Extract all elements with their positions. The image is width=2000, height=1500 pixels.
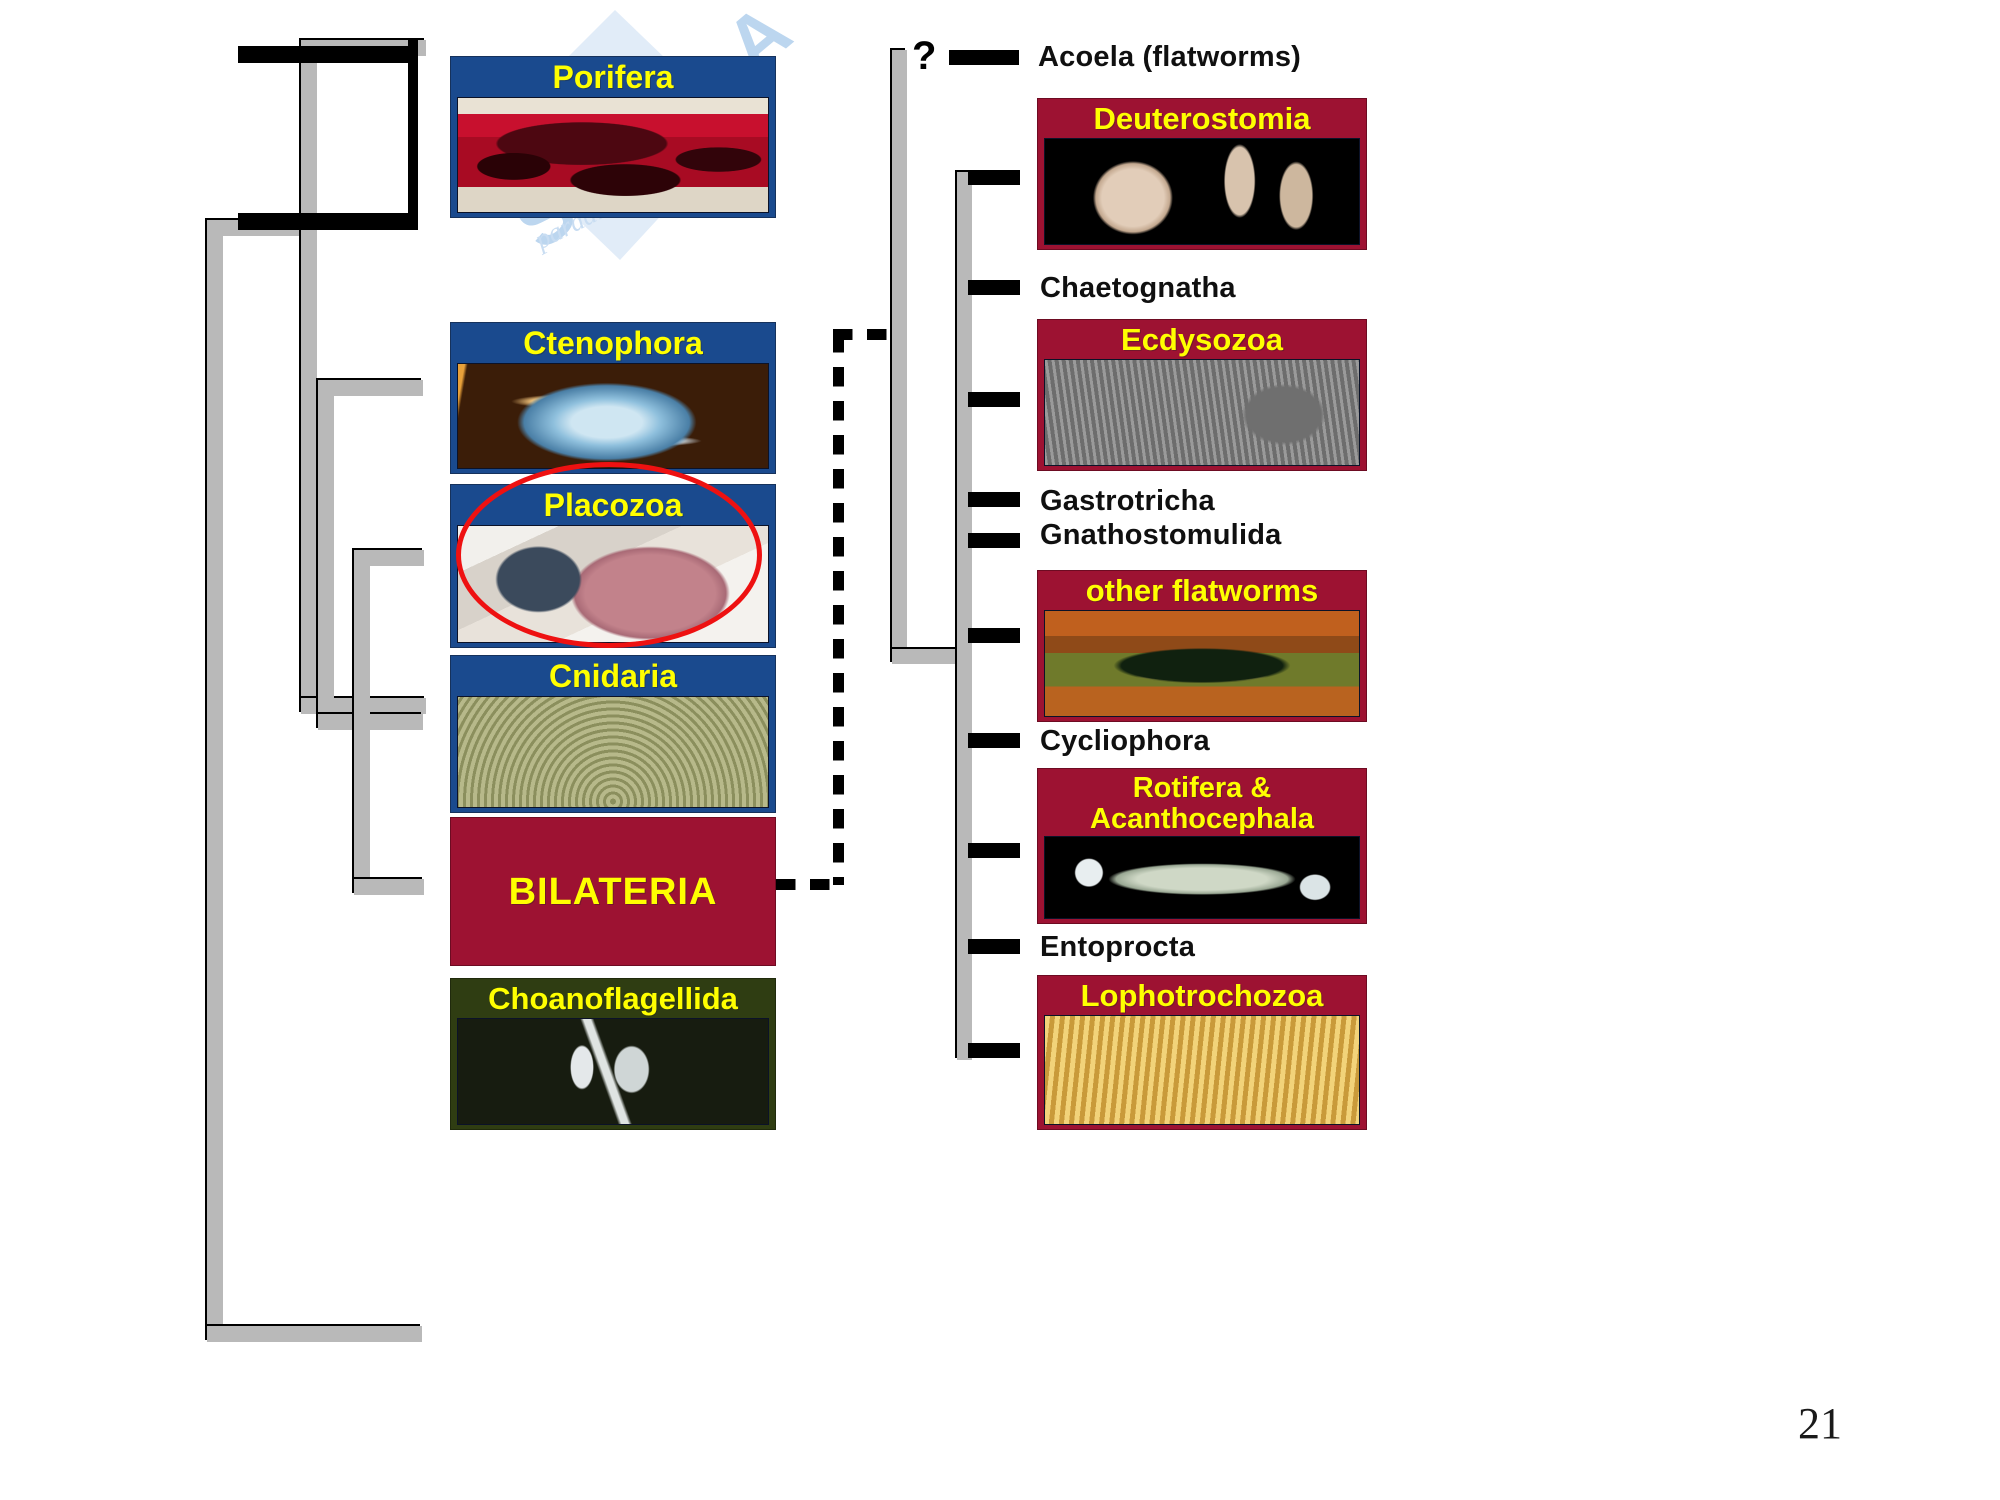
- taxon-label-acoela: Acoela (flatworms): [1038, 41, 1301, 74]
- taxon-title-deuterostomia: Deuterostomia: [1087, 99, 1316, 138]
- taxon-title-lophotrochozoa: Lophotrochozoa: [1075, 976, 1330, 1015]
- taxon-box-bilateria[interactable]: BILATERIA: [450, 817, 776, 966]
- tree-line-root-vertical: [205, 218, 221, 1340]
- taxon-title-choanoflagellida: Choanoflagellida: [482, 979, 744, 1018]
- taxon-photo-rotifera-acanthocephala: [1044, 836, 1360, 919]
- tree-line-porifera-stem-top: [238, 46, 418, 63]
- right-tree-branch-cycliophora: [968, 733, 1020, 748]
- right-tree-branch-ecdysozoa: [968, 392, 1020, 407]
- taxon-label-entoprocta: Entoprocta: [1040, 931, 1195, 964]
- page-number: 21: [1798, 1398, 1842, 1449]
- taxon-title-ctenophora: Ctenophora: [517, 323, 709, 363]
- taxon-box-choanoflagellida[interactable]: Choanoflagellida: [450, 978, 776, 1130]
- taxon-box-deuterostomia[interactable]: Deuterostomia: [1037, 98, 1367, 250]
- right-tree-branch-other-flatworms: [968, 628, 1020, 643]
- right-tree-branch-gnathostomulida: [968, 533, 1020, 548]
- taxon-title-other-flatworms: other flatworms: [1080, 571, 1325, 610]
- taxon-title-porifera: Porifera: [547, 57, 680, 97]
- taxon-title-ecdysozoa: Ecdysozoa: [1115, 320, 1289, 359]
- taxon-box-porifera[interactable]: Porifera: [450, 56, 776, 218]
- taxon-photo-other-flatworms: [1044, 610, 1360, 717]
- taxon-box-placozoa[interactable]: Placozoa: [450, 484, 776, 648]
- taxon-box-other-flatworms[interactable]: other flatworms: [1037, 570, 1367, 722]
- dashed-link-vertical: [833, 333, 844, 885]
- taxon-box-cnidaria[interactable]: Cnidaria: [450, 655, 776, 813]
- taxon-title-cnidaria: Cnidaria: [543, 656, 683, 696]
- right-tree-root-vertical: [890, 48, 905, 662]
- taxon-label-gastrotricha: Gastrotricha: [1040, 485, 1215, 518]
- taxon-photo-ecdysozoa: [1044, 359, 1360, 466]
- taxon-title-bilateria: BILATERIA: [503, 868, 724, 914]
- taxon-photo-cnidaria: [457, 696, 769, 808]
- right-tree-branch-lophotrochozoa: [968, 1043, 1020, 1058]
- tree-line-node3-top: [316, 378, 421, 394]
- taxon-photo-placozoa: [457, 525, 769, 643]
- taxon-photo-lophotrochozoa: [1044, 1015, 1360, 1125]
- right-tree-branch-acoela: [949, 50, 1019, 65]
- taxon-label-gnathostomulida: Gnathostomulida: [1040, 519, 1281, 552]
- tree-line-porifera-stem-vertical: [408, 38, 418, 230]
- taxon-title-placozoa: Placozoa: [538, 485, 689, 525]
- taxon-box-rotifera-acanthocephala[interactable]: Rotifera & Acanthocephala: [1037, 768, 1367, 924]
- tree-line-node4-vertical: [352, 548, 368, 893]
- tree-line-node4-bottom: [352, 877, 422, 893]
- right-tree-branch-rotifera: [968, 843, 1020, 858]
- taxon-photo-porifera: [457, 97, 769, 213]
- taxon-photo-ctenophora: [457, 363, 769, 469]
- taxon-box-ctenophora[interactable]: Ctenophora: [450, 322, 776, 474]
- taxon-box-lophotrochozoa[interactable]: Lophotrochozoa: [1037, 975, 1367, 1130]
- taxon-photo-choanoflagellida: [457, 1018, 769, 1125]
- right-tree-branch-deuterostomia: [968, 170, 1020, 185]
- right-tree-branch-entoprocta: [968, 939, 1020, 954]
- tree-line-porifera-stem-bottom: [238, 213, 418, 230]
- right-tree-main-vertical: [955, 170, 970, 1058]
- taxon-title-rotifera-acanthocephala: Rotifera & Acanthocephala: [1084, 769, 1320, 836]
- taxon-photo-deuterostomia: [1044, 138, 1360, 245]
- tree-line-node3-vertical: [316, 378, 332, 728]
- tree-line-node2-vertical: [299, 38, 315, 712]
- tree-line-node4-top: [352, 548, 422, 564]
- uncertainty-question-mark: ?: [912, 36, 936, 76]
- taxon-label-chaetognatha: Chaetognatha: [1040, 272, 1236, 305]
- taxon-label-cycliophora: Cycliophora: [1040, 725, 1210, 758]
- right-tree-branch-chaetognatha: [968, 280, 1020, 295]
- slide-canvas: SKUOLA paradiso dello studente Porifera …: [0, 0, 2000, 1500]
- taxon-box-ecdysozoa[interactable]: Ecdysozoa: [1037, 319, 1367, 471]
- right-tree-branch-gastrotricha: [968, 492, 1020, 507]
- tree-line-root-bottom: [205, 1324, 420, 1340]
